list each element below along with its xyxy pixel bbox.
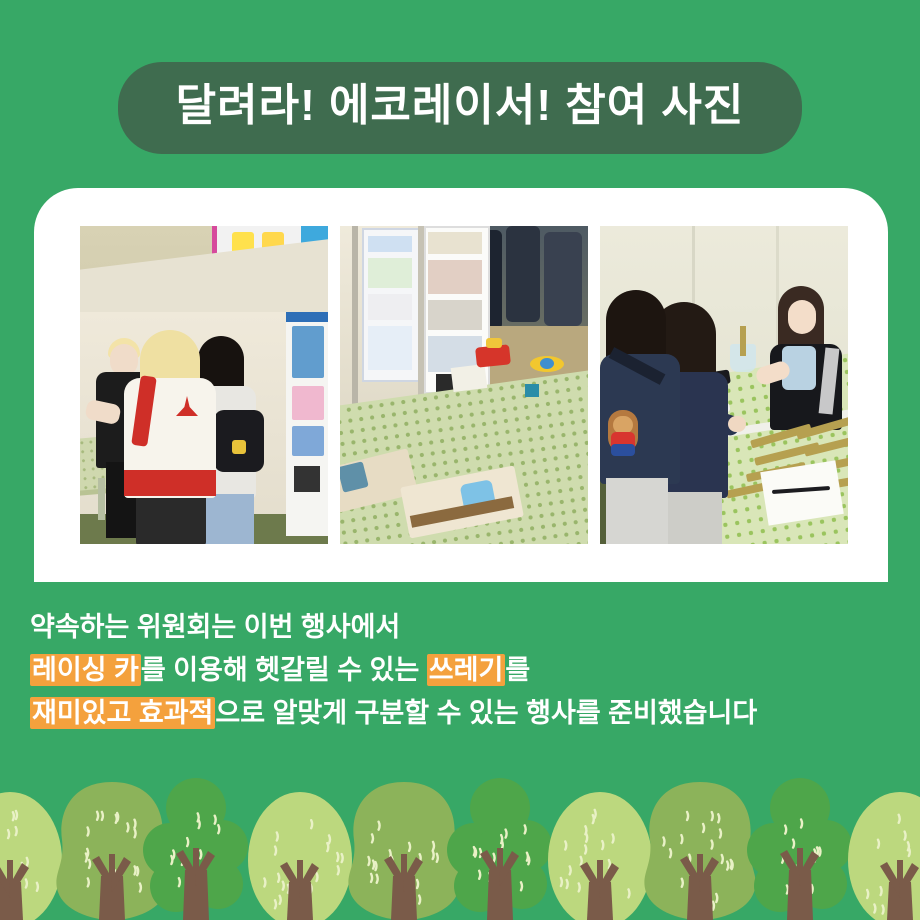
photo2-yellow-toy-center <box>540 358 554 369</box>
photo1-person-c-jeans <box>198 494 254 544</box>
title-pill: 달려라! 에코레이서! 참여 사진 <box>118 62 803 154</box>
body-text: 약속하는 위원회는 이번 행사에서 레이싱 카를 이용해 헷갈릴 수 있는 쓰레… <box>30 606 890 735</box>
photo2-banner-left-row2 <box>368 258 412 288</box>
tree-decoration-strip <box>0 755 920 920</box>
header: 달려라! 에코레이서! 참여 사진 <box>0 62 920 154</box>
photo1-person-b-legs <box>136 494 206 544</box>
page-title: 달려라! 에코레이서! 참여 사진 <box>176 84 745 128</box>
photo3-bear-pants <box>611 444 635 456</box>
photo2-banner-left-row4 <box>368 326 412 370</box>
photo3-student-a-pants <box>606 478 668 544</box>
tree-illustration <box>0 755 920 920</box>
photo2-banner-left-row3 <box>368 294 412 320</box>
photo2-toy-car-top <box>486 338 502 348</box>
photo1-banner-image-a <box>292 386 324 420</box>
photo2-visitor-b <box>506 226 540 322</box>
body-highlight-segment: 쓰레기 <box>427 654 506 686</box>
gallery-photo-1[interactable] <box>80 226 328 544</box>
photo1-qr-code <box>294 466 320 492</box>
photo1-backpack-charm <box>232 440 246 454</box>
photo1-banner-headline <box>292 326 324 378</box>
photo1-banner-image-b <box>292 426 324 456</box>
gallery-photo-3[interactable] <box>600 226 848 544</box>
photo2-banner-left-row1 <box>368 236 412 252</box>
body-plain-segment: 를 이용해 헷갈릴 수 있는 <box>141 655 427 685</box>
body-plain-segment: 으로 알맞게 구분할 수 있는 행사를 준비했습니다 <box>215 698 757 728</box>
photo2-banner-right-row1 <box>428 232 482 254</box>
photo-gallery <box>80 226 848 544</box>
photo-card <box>34 188 888 582</box>
poster-card: 달려라! 에코레이서! 참여 사진 <box>0 0 920 920</box>
photo3-staff-face <box>788 300 816 334</box>
photo3-cup-stick <box>740 326 746 356</box>
photo2-tent-pole-a <box>352 226 358 426</box>
photo2-paper-note <box>451 364 488 392</box>
body-line-2: 레이싱 카를 이용해 헷갈릴 수 있는 쓰레기를 <box>30 649 890 692</box>
body-plain-segment: 약속하는 위원회는 이번 행사에서 <box>30 612 400 642</box>
photo1-table-leg <box>98 478 105 520</box>
body-highlight-segment: 재미있고 효과적 <box>30 697 215 729</box>
photo1-jacket-red-hem <box>124 470 216 496</box>
gallery-photo-2[interactable] <box>340 226 588 544</box>
photo3-student-b-hand <box>728 416 746 432</box>
photo2-banner-right-row3 <box>428 300 482 330</box>
body-highlight-segment: 레이싱 카 <box>30 654 141 686</box>
body-line-3: 재미있고 효과적으로 알맞게 구분할 수 있는 행사를 준비했습니다 <box>30 692 890 735</box>
body-line-1: 약속하는 위원회는 이번 행사에서 <box>30 606 890 649</box>
body-plain-segment: 를 <box>505 655 530 685</box>
photo2-blue-block <box>525 384 539 397</box>
photo2-banner-right-row2 <box>428 260 482 294</box>
photo2-visitor-c <box>544 232 582 326</box>
